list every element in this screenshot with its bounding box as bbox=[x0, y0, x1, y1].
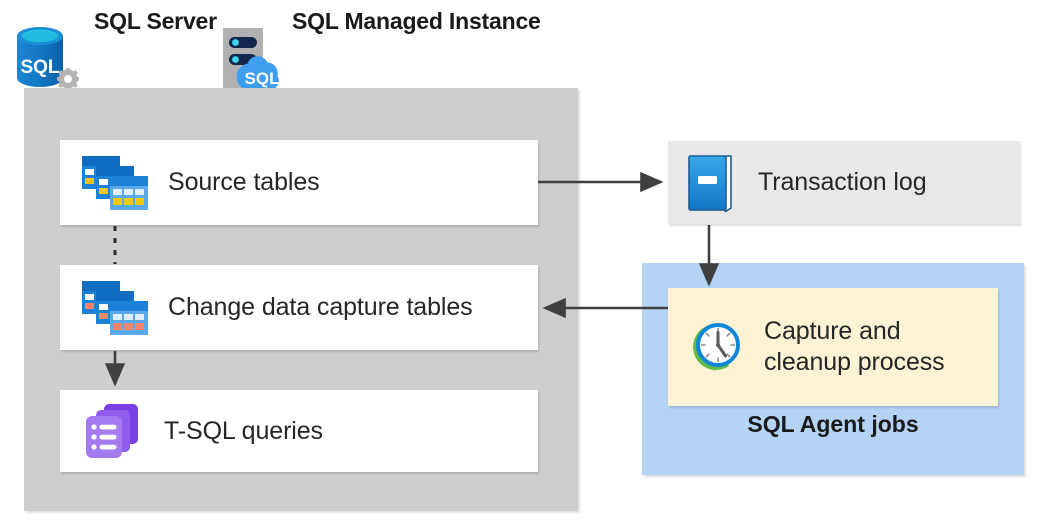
sql-managed-instance-icon: SQL bbox=[221, 24, 291, 94]
node-transaction-log[interactable]: Transaction log bbox=[668, 141, 1020, 224]
diagram-canvas: SQL SQL Server bbox=[0, 0, 1044, 527]
node-change-data-capture-tables[interactable]: Change data capture tables bbox=[60, 265, 538, 350]
stacked-tables-salmon-icon bbox=[82, 280, 148, 336]
node-capture-cleanup-process[interactable]: Capture and cleanup process bbox=[668, 288, 998, 406]
legend-label-sql-managed-instance: SQL Managed Instance bbox=[292, 8, 541, 35]
sql-agent-jobs-caption: SQL Agent jobs bbox=[642, 411, 1024, 438]
svg-text:SQL: SQL bbox=[245, 69, 280, 88]
sql-server-icon: SQL bbox=[12, 22, 80, 94]
node-label-t-sql-queries: T-SQL queries bbox=[164, 416, 323, 447]
node-label-source-tables: Source tables bbox=[168, 167, 320, 198]
purple-list-stack-icon bbox=[82, 402, 144, 460]
node-label-change-data-capture-tables: Change data capture tables bbox=[168, 292, 473, 323]
node-t-sql-queries[interactable]: T-SQL queries bbox=[60, 390, 538, 472]
clock-refresh-icon bbox=[688, 319, 744, 375]
node-label-capture-cleanup-process: Capture and cleanup process bbox=[764, 316, 945, 378]
svg-text:SQL: SQL bbox=[20, 57, 59, 78]
stacked-tables-yellow-icon bbox=[82, 155, 148, 211]
node-label-transaction-log: Transaction log bbox=[758, 167, 927, 198]
node-source-tables[interactable]: Source tables bbox=[60, 140, 538, 225]
blue-book-icon bbox=[686, 154, 738, 212]
legend-label-sql-server: SQL Server bbox=[94, 8, 217, 35]
